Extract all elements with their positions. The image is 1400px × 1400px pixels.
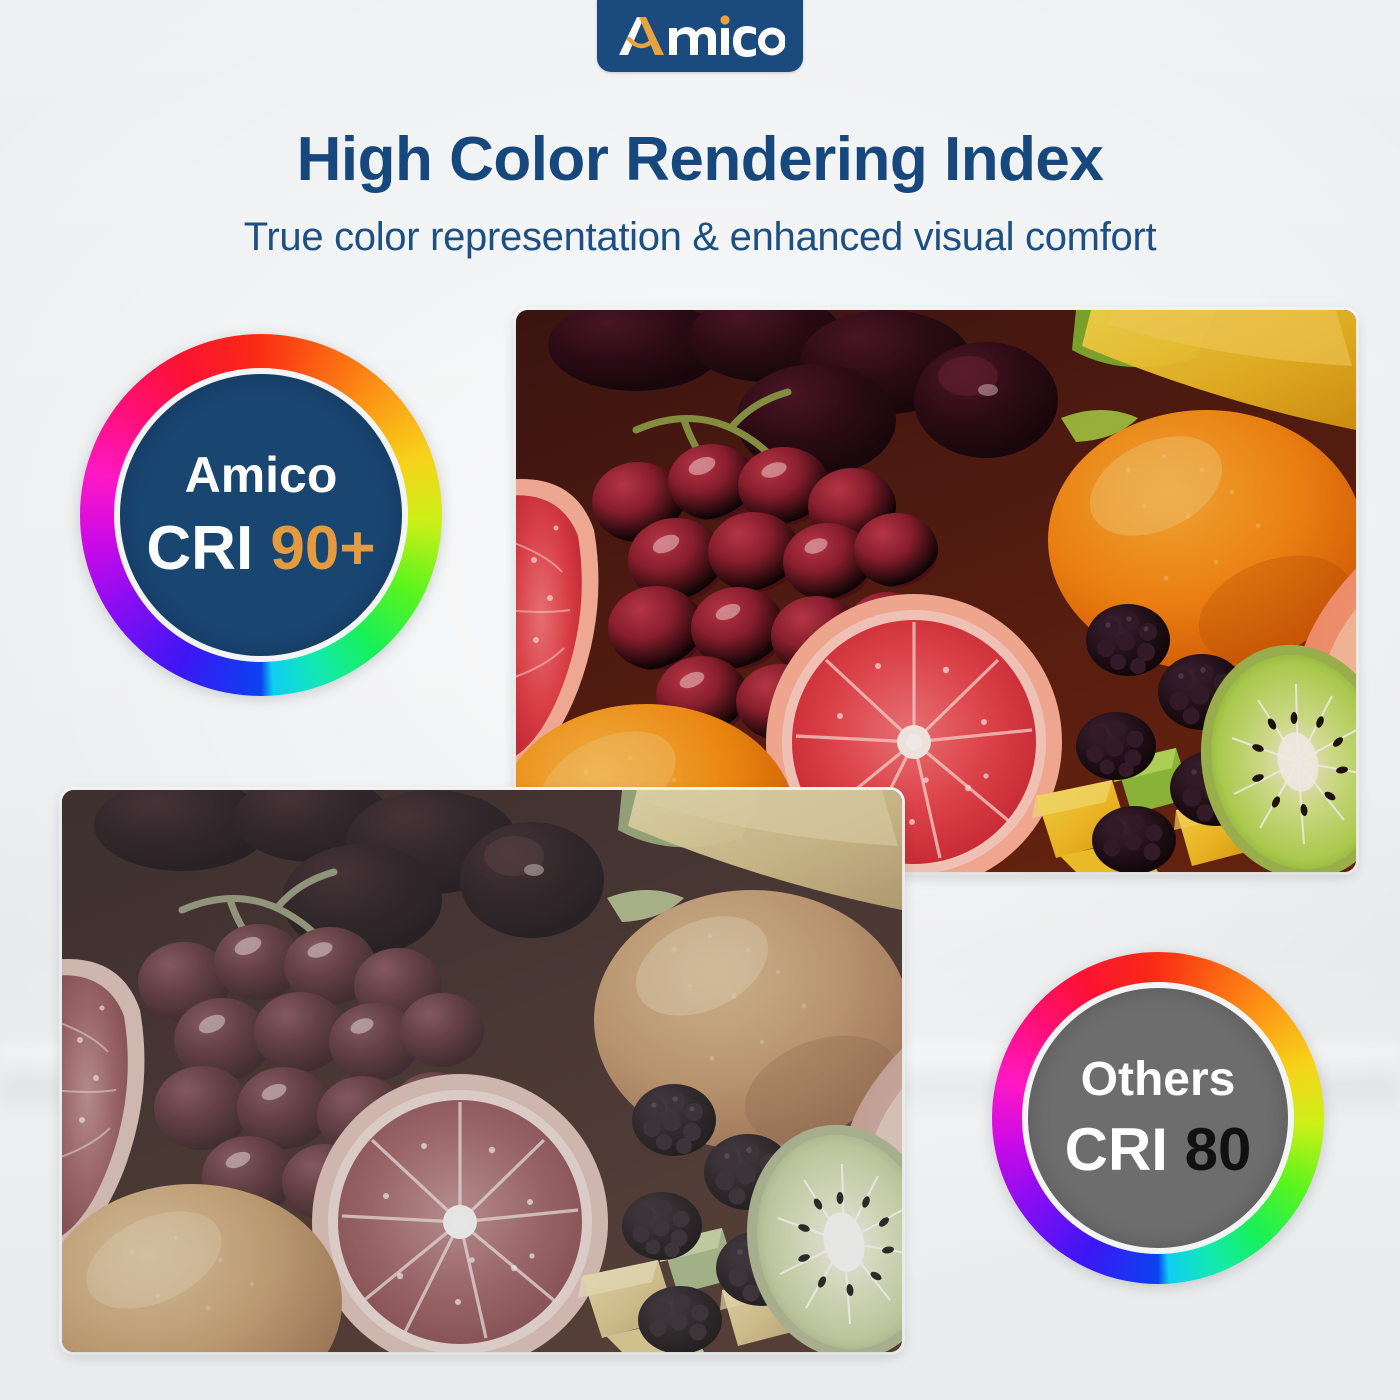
badge-metric-value: 80 (1185, 1116, 1252, 1183)
fruit-illustration-washed (62, 790, 902, 1352)
badge-metric-label: CRI (146, 514, 253, 583)
badge-amico-cri: Amico CRI 90+ (80, 334, 442, 696)
badge-metric-value: 90+ (270, 514, 375, 583)
photo-high-cri (516, 310, 1356, 872)
badge-brand-label: Amico (185, 450, 338, 500)
page-subtitle: True color representation & enhanced vis… (0, 215, 1400, 260)
badge-core: Amico CRI 90+ (120, 374, 402, 656)
amico-wordmark (615, 11, 785, 61)
badge-brand-label: Others (1081, 1056, 1236, 1104)
badge-others-cri: Others CRI 80 (992, 952, 1324, 1284)
page-title: High Color Rendering Index (0, 124, 1400, 195)
badge-core: Others CRI 80 (1028, 988, 1288, 1248)
amico-logo (597, 0, 803, 72)
badge-metric-label: CRI (1065, 1116, 1168, 1183)
photo-low-cri (62, 790, 902, 1352)
badge-metric: CRI 80 (1065, 1120, 1252, 1180)
fruit-illustration-vivid (516, 310, 1356, 872)
badge-metric: CRI 90+ (146, 518, 375, 580)
